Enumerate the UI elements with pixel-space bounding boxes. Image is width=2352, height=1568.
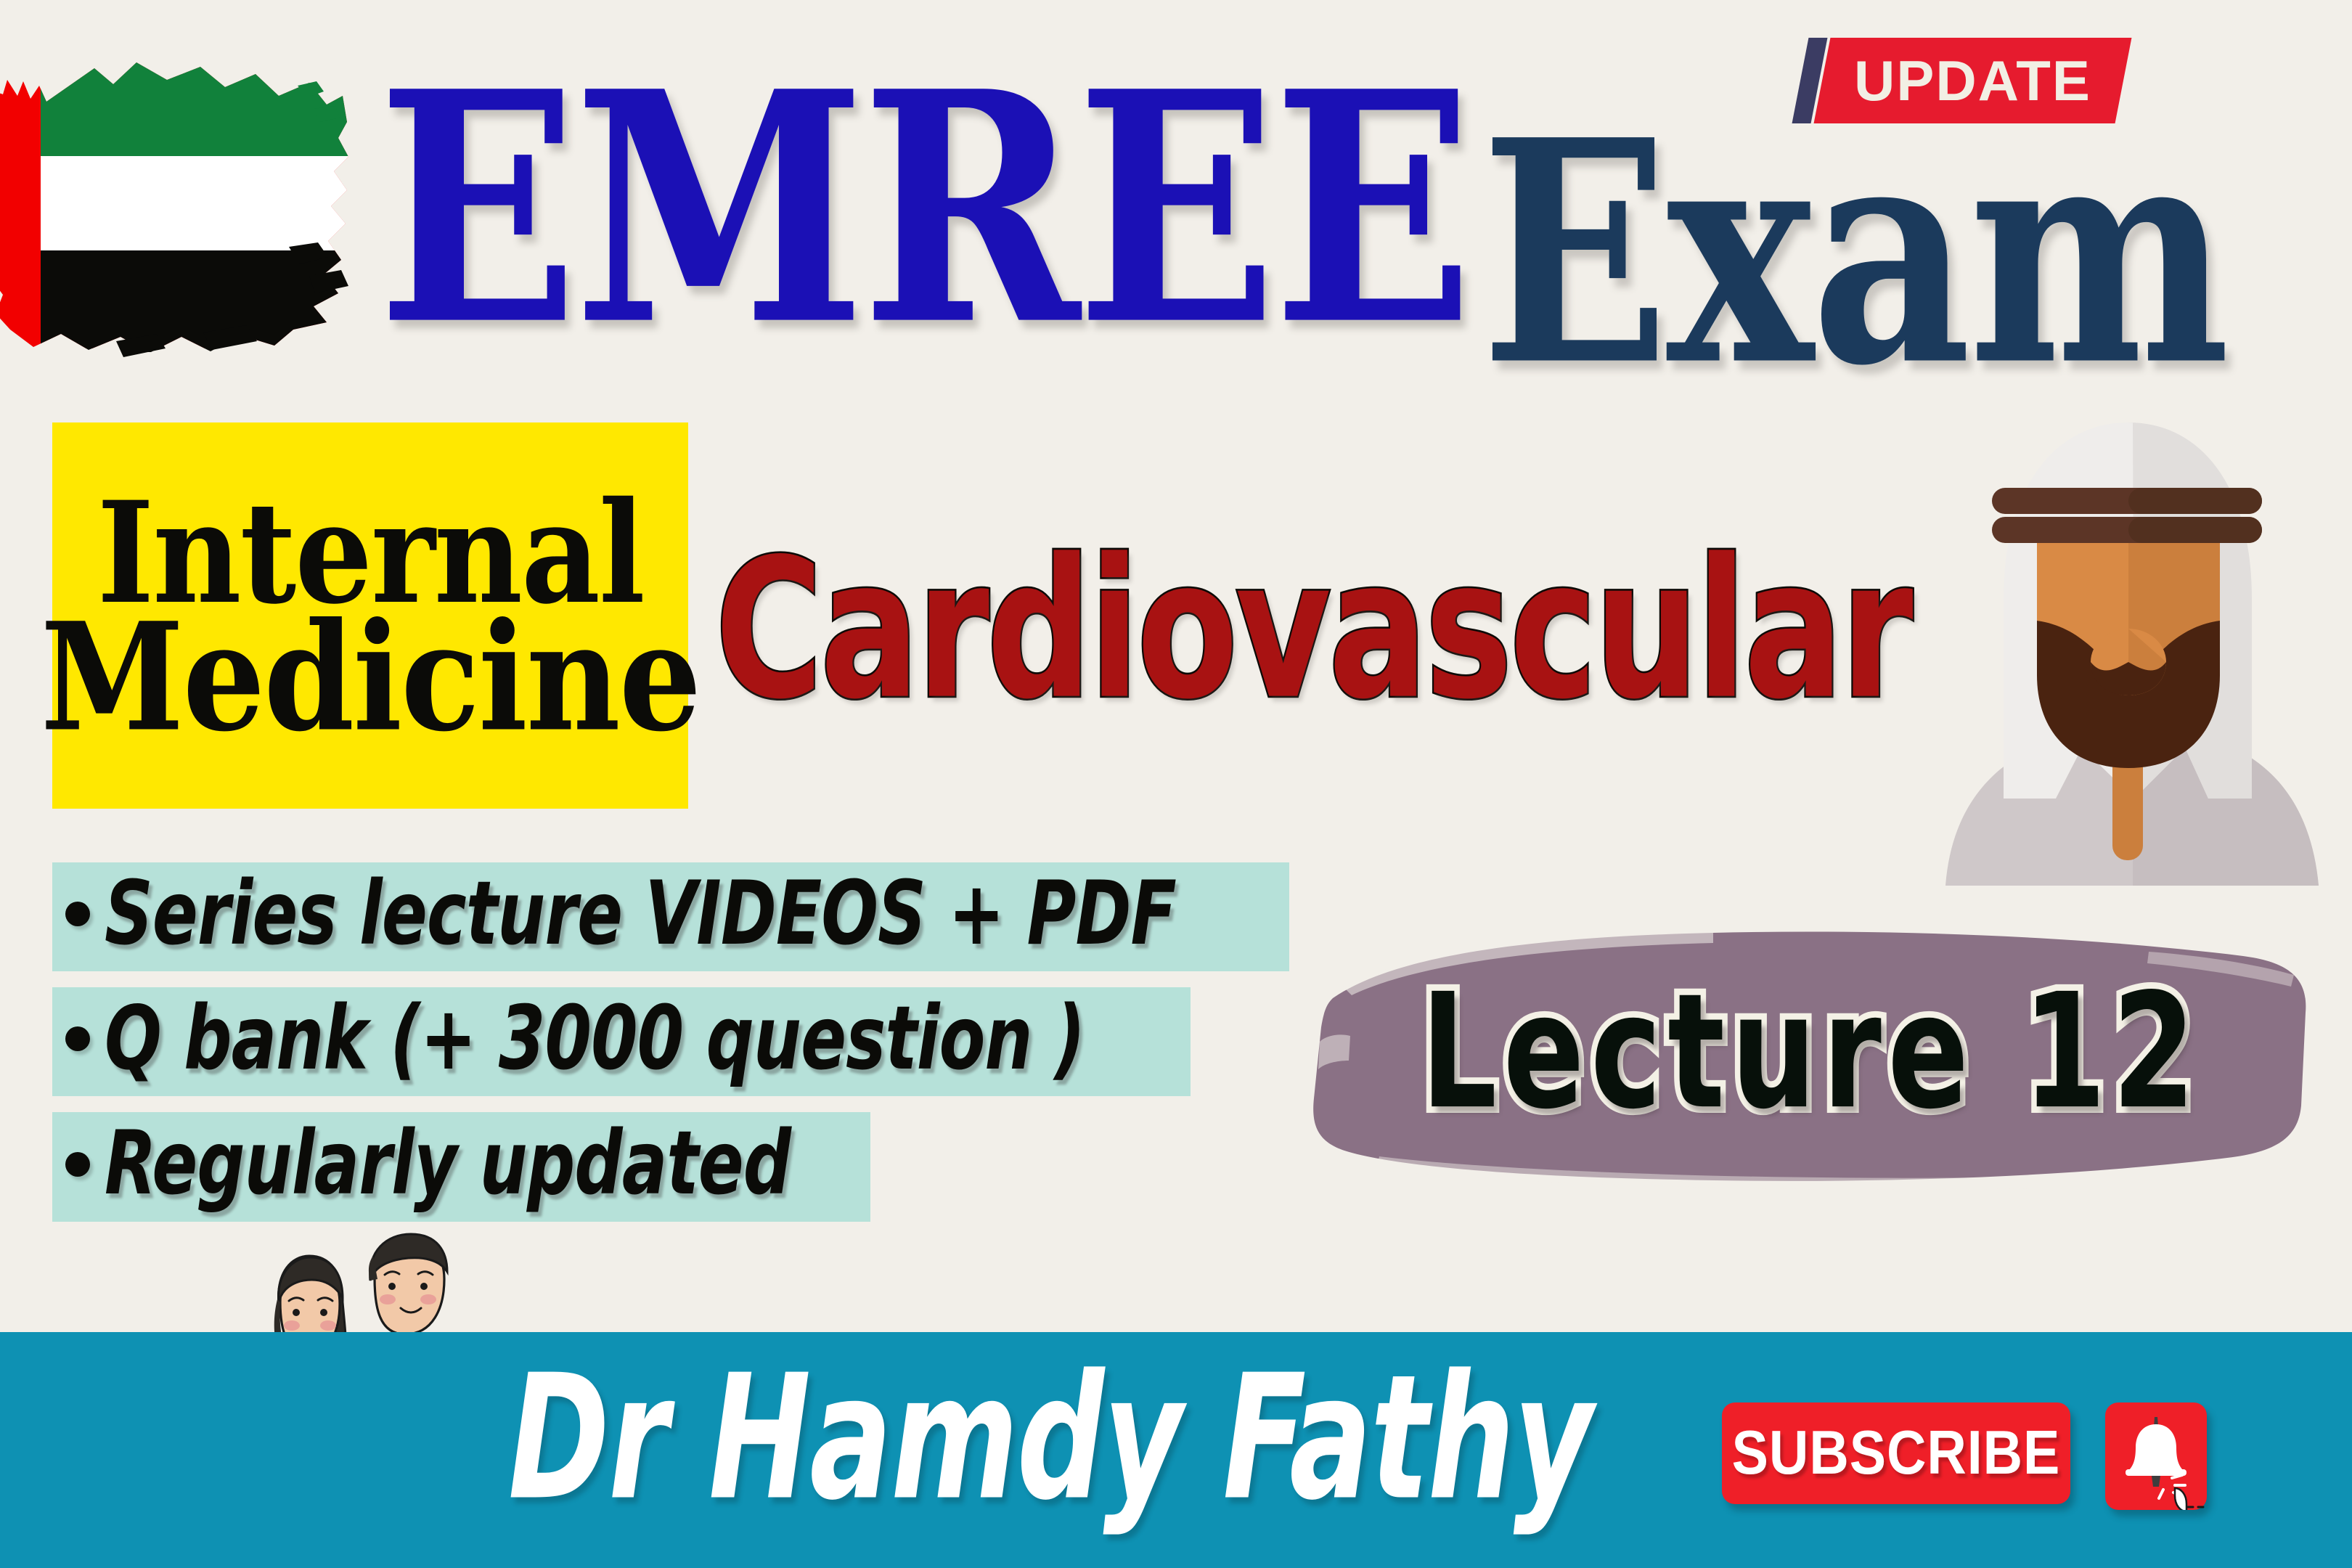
list-item: Q bank (+ 3000 question ) (52, 987, 1214, 1096)
youtube-thumbnail-canvas: EMREE Exam UPDATE Internal Medicine Card… (0, 0, 2352, 1568)
notification-bell-button[interactable] (2105, 1402, 2207, 1510)
brand-title-emree: EMREE (377, 58, 1469, 359)
update-badge: UPDATE (1800, 38, 2123, 123)
list-item: Series lecture VIDEOS + PDF (52, 862, 1214, 971)
presenter-name: Dr Hamdy Fathy (508, 1352, 1592, 1524)
topic-title-cardiovascular: Cardiovascular (715, 534, 1911, 726)
feature-highlight: Series lecture VIDEOS + PDF (52, 862, 1289, 971)
lecture-badge: Lecture 12 (1307, 911, 2316, 1194)
uae-flag-brush (0, 29, 356, 370)
feature-highlight: Q bank (+ 3000 question ) (52, 987, 1191, 1096)
subject-line-2: Medicine (41, 608, 701, 747)
feature-label: Series lecture VIDEOS + PDF (105, 869, 1176, 958)
update-badge-chip: UPDATE (1814, 38, 2132, 123)
features-list: Series lecture VIDEOS + PDF Q bank (+ 30… (52, 862, 1214, 1238)
subscribe-button-label: SUBSCRIBE (1732, 1418, 2061, 1489)
exam-word: Exam (1481, 109, 2227, 400)
subscribe-button[interactable]: SUBSCRIBE (1722, 1402, 2070, 1504)
update-badge-label: UPDATE (1854, 52, 2091, 109)
emirati-man-avatar (1895, 407, 2352, 886)
bullet-dot-icon (65, 1152, 90, 1177)
subject-yellow-box: Internal Medicine (52, 422, 688, 809)
list-item: Regularly updated (52, 1112, 1214, 1221)
bullet-dot-icon (65, 902, 90, 926)
notification-bell-icon (2105, 1402, 2207, 1510)
lecture-label: Lecture 12 (1337, 972, 2286, 1130)
feature-label: Q bank (+ 3000 question ) (105, 995, 1085, 1084)
feature-highlight: Regularly updated (52, 1112, 870, 1221)
bullet-dot-icon (65, 1026, 90, 1051)
feature-label: Regularly updated (105, 1119, 791, 1209)
